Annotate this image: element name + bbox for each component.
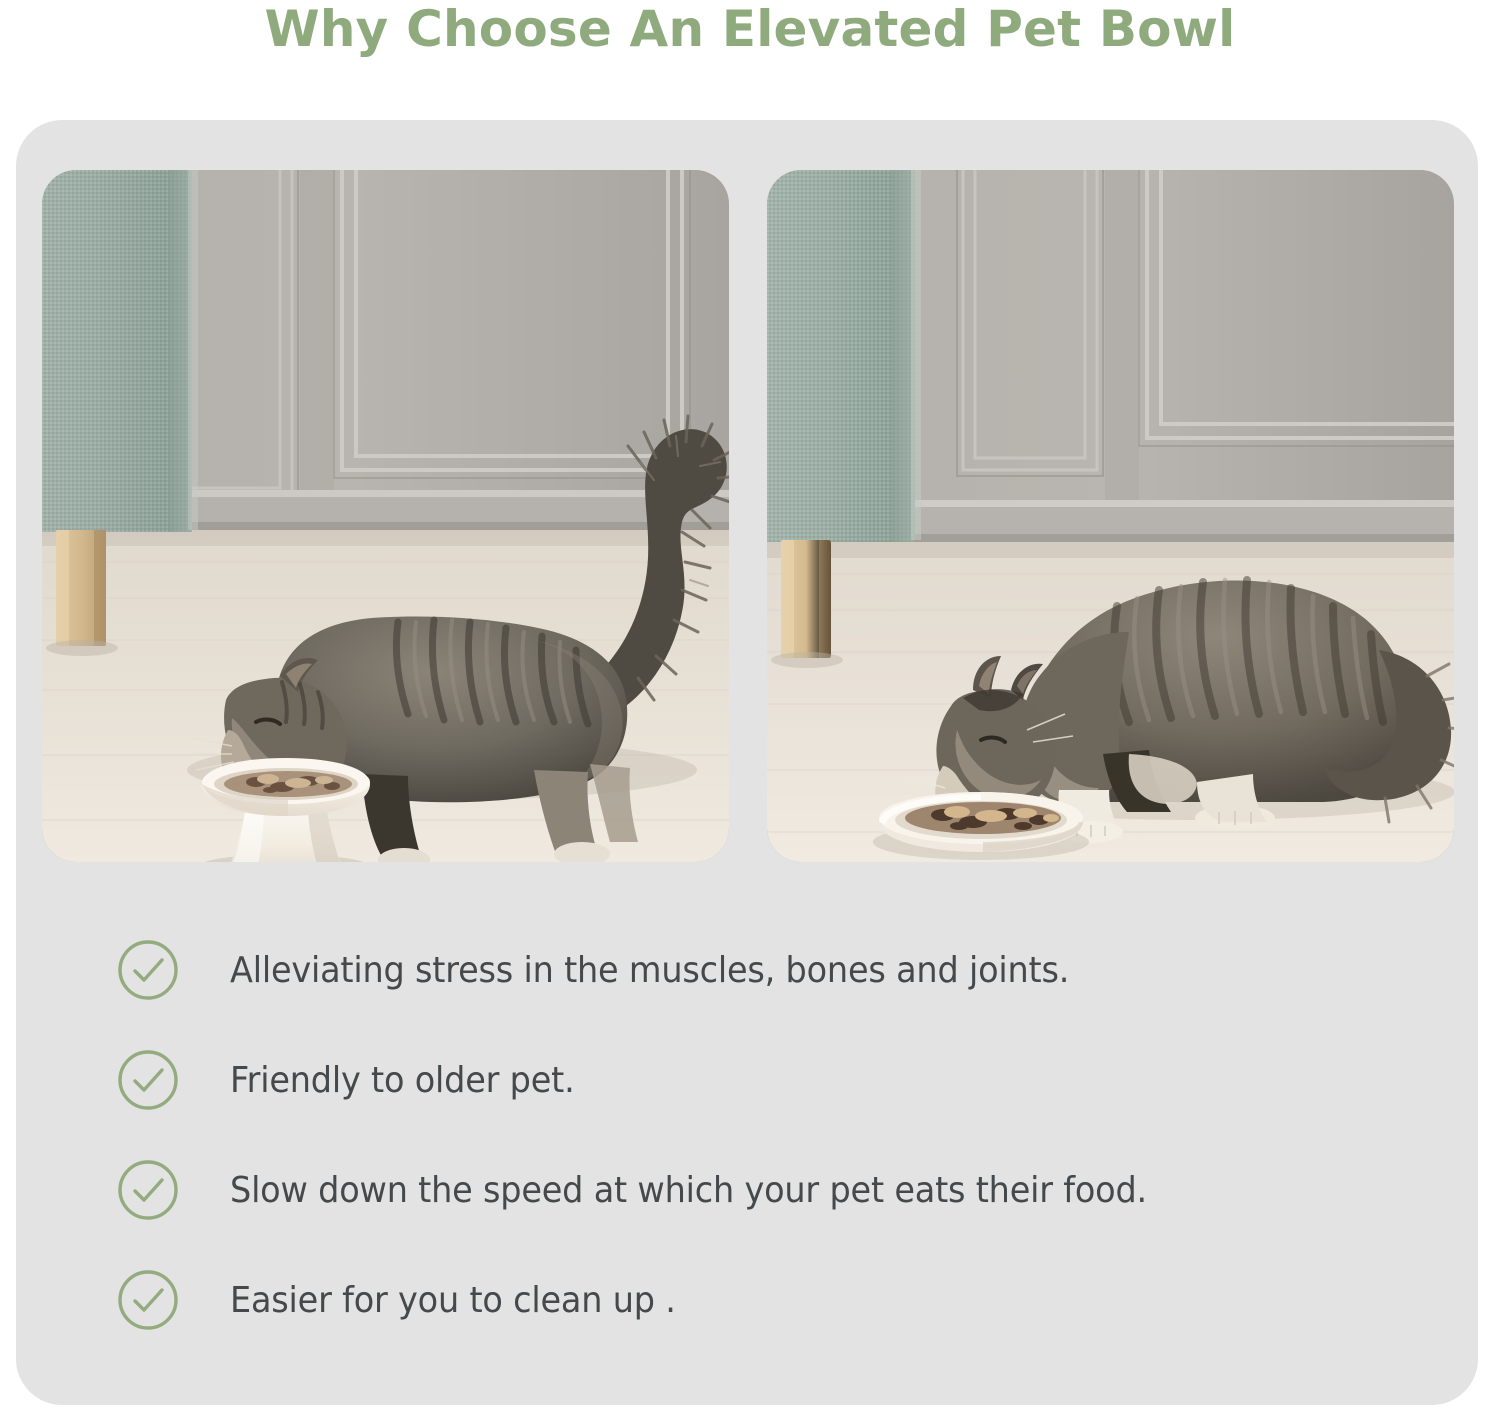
benefits-list: Alleviating stress in the muscles, bones… xyxy=(116,915,1436,1355)
list-item: Alleviating stress in the muscles, bones… xyxy=(116,915,1436,1025)
floor-bowl-photo xyxy=(767,170,1454,862)
check-circle-icon xyxy=(116,1158,180,1222)
list-item: Friendly to older pet. xyxy=(116,1025,1436,1135)
list-item-label: Slow down the speed at which your pet ea… xyxy=(230,1170,1147,1211)
page-title: Why Choose An Elevated Pet Bowl xyxy=(0,0,1500,60)
list-item-label: Friendly to older pet. xyxy=(230,1060,575,1101)
list-item: Easier for you to clean up . xyxy=(116,1245,1436,1355)
check-circle-icon xyxy=(116,938,180,1002)
list-item-label: Easier for you to clean up . xyxy=(230,1280,676,1321)
marketing-infographic: Why Choose An Elevated Pet Bowl xyxy=(0,0,1500,1414)
check-circle-icon xyxy=(116,1048,180,1112)
check-circle-icon xyxy=(116,1268,180,1332)
list-item: Slow down the speed at which your pet ea… xyxy=(116,1135,1436,1245)
list-item-label: Alleviating stress in the muscles, bones… xyxy=(230,950,1069,991)
photo-gallery xyxy=(42,170,1454,862)
content-card: Alleviating stress in the muscles, bones… xyxy=(16,120,1478,1405)
elevated-bowl-photo xyxy=(42,170,729,862)
